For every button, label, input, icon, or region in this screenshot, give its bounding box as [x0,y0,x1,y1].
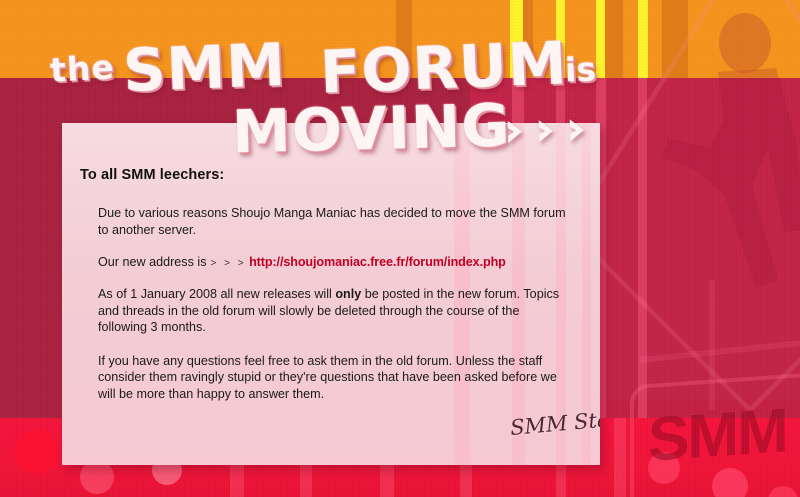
new-forum-url-link[interactable]: http://shoujomaniac.free.fr/forum/index.… [249,255,506,269]
paragraph-reason: Due to various reasons Shoujo Manga Mani… [98,205,568,238]
paragraph-questions: If you have any questions feel free to a… [98,353,568,403]
new-address-line: Our new address is> > >http://shoujomani… [98,255,600,269]
address-label: Our new address is [98,255,207,269]
releases-text-before: As of 1 January 2008 all new releases wi… [98,287,335,301]
poster-canvas: SMM To all SMM leechers: Due to various … [0,0,800,497]
address-arrows: > > > [211,258,247,269]
paragraph-releases: As of 1 January 2008 all new releases wi… [98,286,568,336]
announcement-panel: To all SMM leechers: Due to various reas… [62,123,600,465]
releases-text-emphasis: only [335,287,361,301]
panel-heading: To all SMM leechers: [80,167,600,183]
